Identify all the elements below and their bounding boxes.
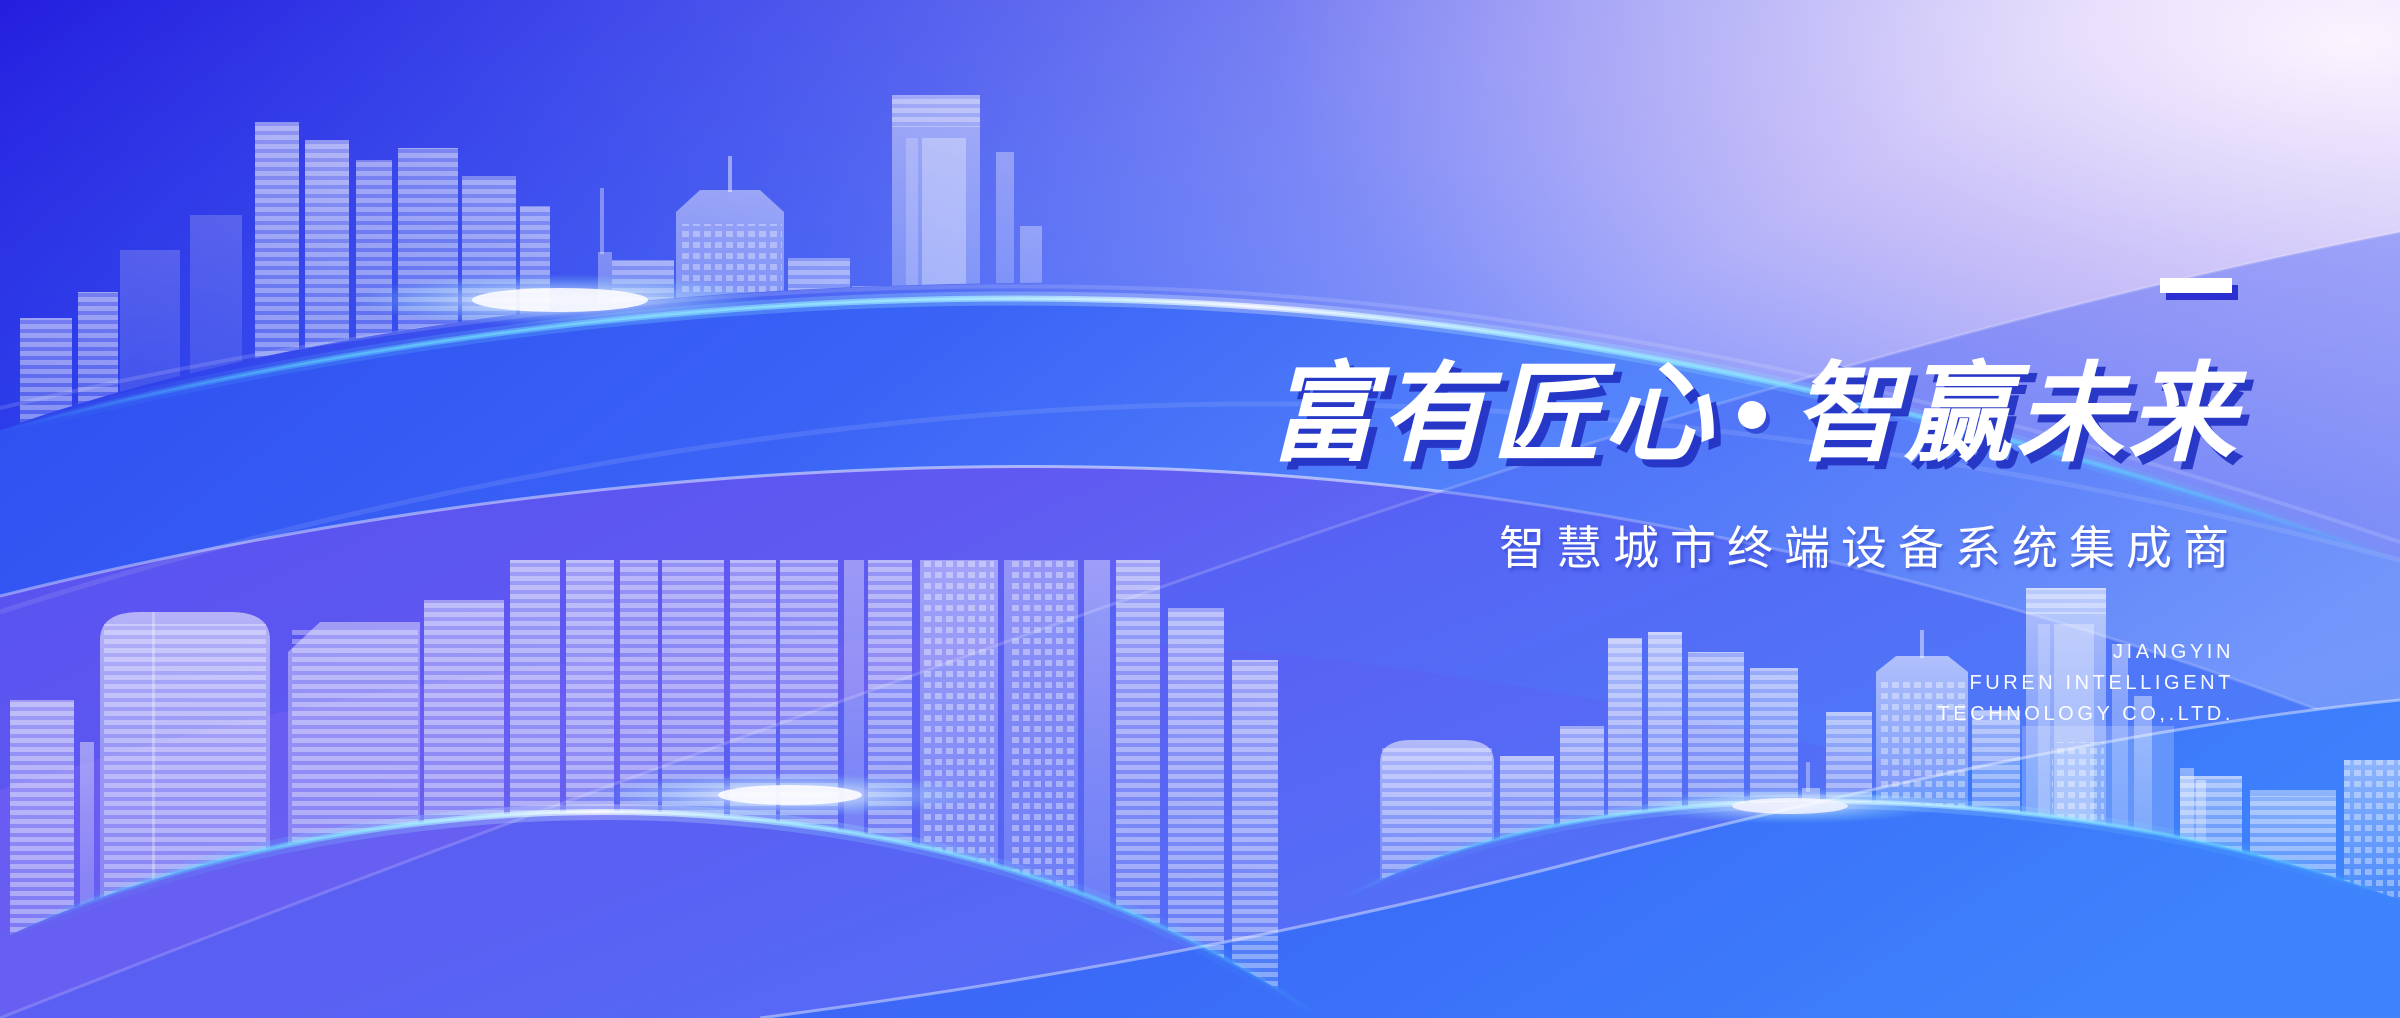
accent-dash-icon (2160, 278, 2232, 293)
headline-left: 富有匠心 (1268, 358, 1716, 471)
company-name-block: JIANGYIN FUREN INTELLIGENT TECHNOLOGY CO… (1774, 637, 2234, 730)
company-line-1: JIANGYIN (1774, 637, 2234, 668)
page-subtitle: 智慧城市终端设备系统集成商 (1499, 512, 2240, 578)
glow-arcs-layer (0, 0, 2400, 1018)
page-title: 富有匠心 智赢未来 (1268, 358, 2240, 471)
company-line-2: FUREN INTELLIGENT (1774, 668, 2234, 699)
company-line-3: TECHNOLOGY CO,.LTD. (1774, 699, 2234, 730)
company-banner: 富有匠心 智赢未来 智慧城市终端设备系统集成商 JIANGYIN FUREN I… (0, 0, 2400, 1018)
dot-separator-icon (1738, 401, 1766, 429)
headline-right: 智赢未来 (1792, 358, 2240, 471)
